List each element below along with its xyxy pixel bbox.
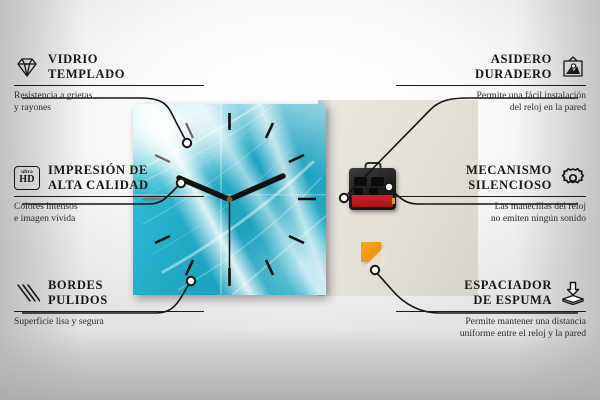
feature-title: VIDRIO TEMPLADO	[48, 52, 125, 81]
feature-title: IMPRESIÓN DE ALTA CALIDAD	[48, 163, 149, 192]
feature-vidrio-templado[interactable]: VIDRIO TEMPLADO Resistencia a grietas y …	[14, 52, 204, 113]
picture-frame-hanger-icon	[560, 55, 586, 79]
feature-description: Las manecillas del reloj no emiten ningú…	[396, 201, 586, 224]
feature-divider	[14, 196, 204, 197]
feature-asidero-duradero[interactable]: ASIDERO DURADERO Permite una fácil insta…	[396, 52, 586, 113]
feature-header: VIDRIO TEMPLADO	[14, 52, 204, 81]
feature-espaciador-de-espuma[interactable]: ESPACIADOR DE ESPUMA Permite mantener un…	[396, 278, 586, 339]
feature-bordes-pulidos[interactable]: BORDES PULIDOS Superficie lisa y segura	[14, 278, 204, 328]
diamond-icon	[14, 55, 40, 79]
anchor-ring-espaciador	[371, 266, 379, 274]
feature-title-line1: BORDES	[48, 278, 108, 293]
feature-title: ASIDERO DURADERO	[475, 52, 552, 81]
feature-title-line1: ESPACIADOR	[464, 278, 552, 293]
feature-title-line2: DURADERO	[475, 67, 552, 82]
feature-mecanismo-silencioso[interactable]: MECANISMO SILENCIOSO Las manecillas del …	[396, 163, 586, 224]
gear-icon	[560, 166, 586, 190]
anchor-ring-asidero	[340, 194, 348, 202]
feature-title-line2: ALTA CALIDAD	[48, 178, 149, 193]
feature-impresion-alta-calidad[interactable]: ultra HD IMPRESIÓN DE ALTA CALIDAD Color…	[14, 163, 204, 224]
feature-desc-line1: Superficie lisa y segura	[14, 316, 204, 328]
feature-desc-line2: y rayones	[14, 102, 204, 114]
anchor-ring-vidrio	[183, 139, 191, 147]
feature-description: Permite mantener una distancia uniforme …	[396, 316, 586, 339]
feature-description: Colores intensos e imagen vívida	[14, 201, 204, 224]
feature-title-line2: DE ESPUMA	[464, 293, 552, 308]
feature-title-line1: MECANISMO	[466, 163, 552, 178]
feature-divider	[396, 85, 586, 86]
ultra-hd-icon: ultra HD	[14, 166, 40, 190]
feature-title-line2: SILENCIOSO	[466, 178, 552, 193]
feature-desc-line1: Permite una fácil instalación	[396, 90, 586, 102]
feature-header: MECANISMO SILENCIOSO	[396, 163, 586, 192]
feature-divider	[396, 311, 586, 312]
feature-header: ASIDERO DURADERO	[396, 52, 586, 81]
feature-desc-line2: e imagen vívida	[14, 213, 204, 225]
down-arrow-pad-icon	[560, 281, 586, 305]
feature-header: ultra HD IMPRESIÓN DE ALTA CALIDAD	[14, 163, 204, 192]
feature-title-line1: ASIDERO	[475, 52, 552, 67]
feature-desc-line2: del reloj en la pared	[396, 102, 586, 114]
anchor-ring-mecanismo	[385, 183, 393, 191]
feature-title: ESPACIADOR DE ESPUMA	[464, 278, 552, 307]
feature-description: Permite una fácil instalación del reloj …	[396, 90, 586, 113]
feature-desc-line1: Resistencia a grietas	[14, 90, 204, 102]
feature-header: ESPACIADOR DE ESPUMA	[396, 278, 586, 307]
infographic-canvas: VIDRIO TEMPLADO Resistencia a grietas y …	[0, 0, 600, 400]
feature-divider	[14, 85, 204, 86]
feature-title-line2: TEMPLADO	[48, 67, 125, 82]
feature-desc-line2: no emiten ningún sonido	[396, 213, 586, 225]
diagonal-lines-icon	[14, 281, 40, 305]
ultra-hd-icon-main: HD	[19, 175, 35, 185]
feature-divider	[14, 311, 204, 312]
feature-desc-line1: Colores intensos	[14, 201, 204, 213]
feature-header: BORDES PULIDOS	[14, 278, 204, 307]
feature-desc-line2: uniforme entre el reloj y la pared	[396, 328, 586, 340]
feature-description: Resistencia a grietas y rayones	[14, 90, 204, 113]
feature-title-line1: IMPRESIÓN DE	[48, 163, 149, 178]
feature-title: MECANISMO SILENCIOSO	[466, 163, 552, 192]
feature-description: Superficie lisa y segura	[14, 316, 204, 328]
feature-title: BORDES PULIDOS	[48, 278, 108, 307]
feature-title-line1: VIDRIO	[48, 52, 125, 67]
feature-desc-line1: Permite mantener una distancia	[396, 316, 586, 328]
feature-title-line2: PULIDOS	[48, 293, 108, 308]
feature-divider	[396, 196, 586, 197]
feature-desc-line1: Las manecillas del reloj	[396, 201, 586, 213]
